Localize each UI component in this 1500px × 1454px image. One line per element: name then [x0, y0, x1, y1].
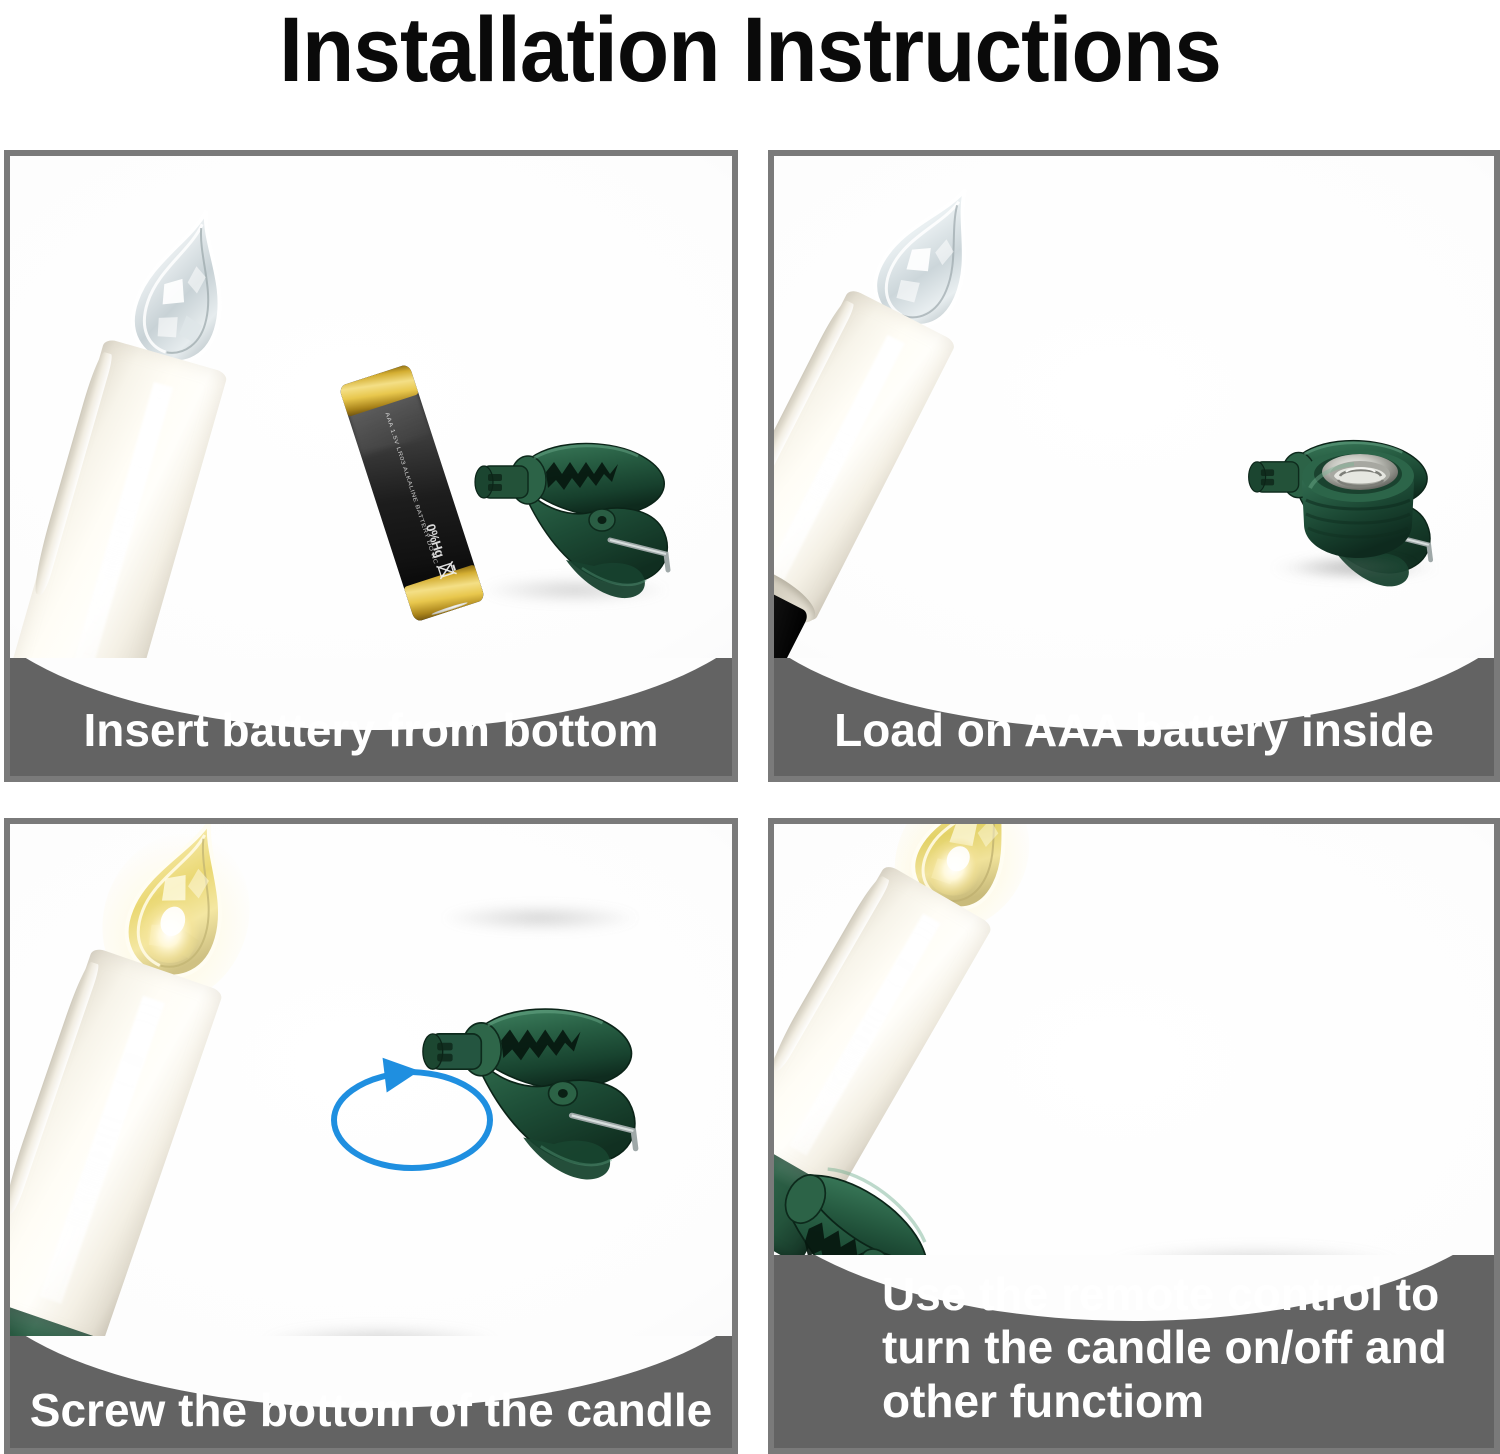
- panel-insert-battery: AAA 1.5V LR03 ALKALINE BATTERY DO NOT RE…: [4, 150, 738, 782]
- panel-load-battery: AAA 1.5V LR03 ALKALINE BATTERY DO NOT RE…: [768, 150, 1500, 782]
- instruction-sheet: Installation Instructions: [0, 0, 1500, 1454]
- green-alligator-clip: [408, 992, 656, 1186]
- candle-body: [768, 288, 957, 624]
- candle-wax-drip: [768, 298, 856, 502]
- caption-text: Load on AAA battery inside: [774, 706, 1494, 776]
- panel-grid: AAA 1.5V LR03 ALKALINE BATTERY DO NOT RE…: [4, 150, 1500, 1454]
- panel-caption: Load on AAA battery inside: [774, 658, 1494, 776]
- caption-text: Screw the bottom of the candle: [10, 1386, 732, 1448]
- led-candle-lit-with-clip-attached: [768, 853, 1000, 1265]
- panel-caption: Use the remote control to turn the candl…: [774, 1255, 1494, 1448]
- green-alligator-clip: [462, 428, 686, 604]
- panel-screw-bottom: Screw the bottom of the candle: [4, 818, 738, 1454]
- caption-text: Use the remote control to turn the candl…: [774, 1268, 1494, 1448]
- candle-body: [4, 947, 224, 1349]
- clip-shadow: [440, 904, 640, 932]
- panel-remote-control: Use the remote control to turn the candl…: [768, 818, 1500, 1454]
- caption-line-2: turn the candle on/off and: [882, 1321, 1494, 1374]
- page-title: Installation Instructions: [53, 0, 1448, 104]
- candle-wax-drip: [29, 351, 113, 596]
- caption-line-3: other functiom: [882, 1375, 1494, 1428]
- green-screw-endcap-with-spring: [1282, 426, 1430, 566]
- candle-wax-drip: [768, 873, 891, 1074]
- candle-wax-drip: [4, 960, 101, 1215]
- panel-caption: Screw the bottom of the candle: [10, 1336, 732, 1448]
- panel-caption: Insert battery from bottom: [10, 658, 732, 776]
- caption-line-1: Use the remote control to: [882, 1268, 1494, 1321]
- caption-text: Insert battery from bottom: [10, 706, 732, 776]
